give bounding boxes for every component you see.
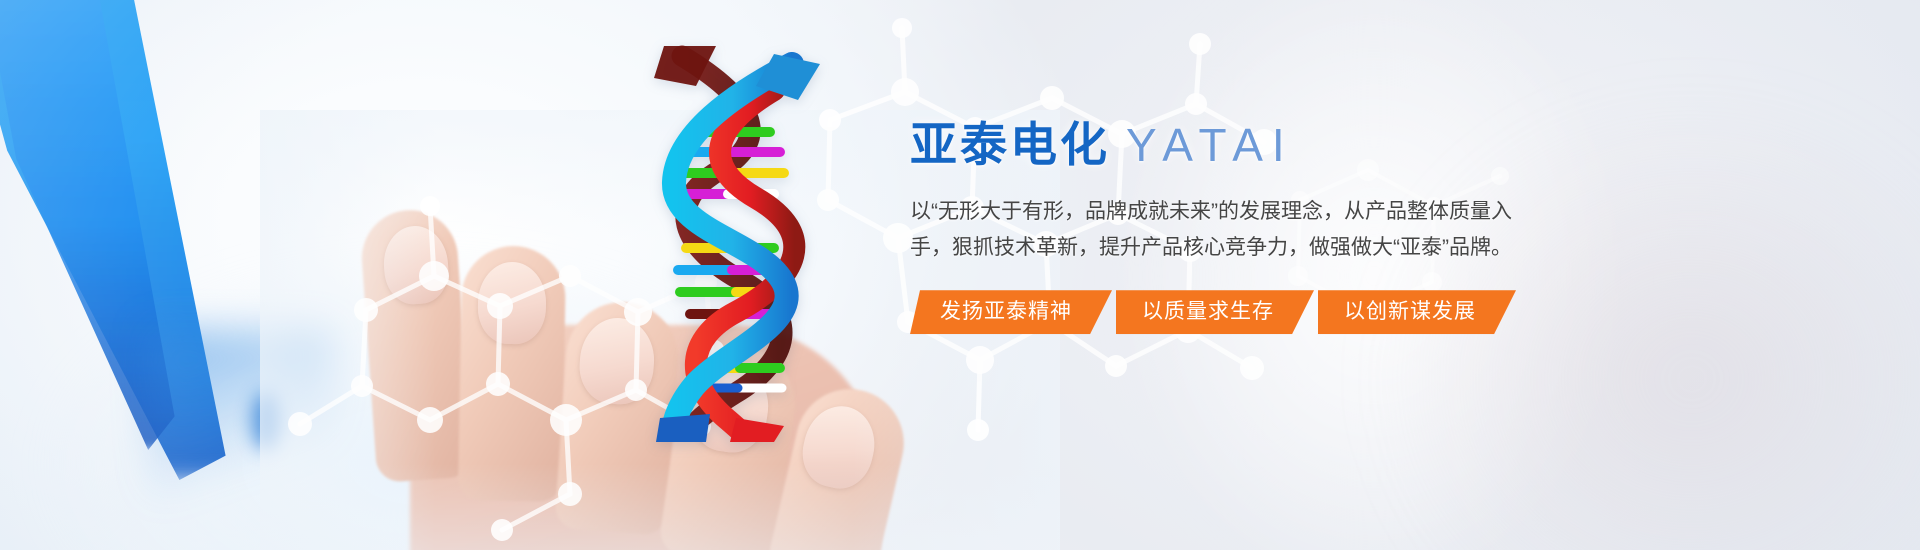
slogan-tag-3[interactable]: 以创新谋发展 [1318,290,1516,334]
banner-content: 亚泰电化YATAI 以“无形大于有形，品牌成就未来”的发展理念，从产品整体质量入… [910,118,1570,334]
description-line-2: 手，狠抓技术革新，提升产品核心竞争力，做强做大“亚泰”品牌。 [910,230,1530,266]
page-title: 亚泰电化YATAI [910,118,1570,172]
slogan-tag-1[interactable]: 发扬亚泰精神 [910,290,1112,334]
hero-banner: 亚泰电化YATAI 以“无形大于有形，品牌成就未来”的发展理念，从产品整体质量入… [0,0,1920,550]
slogan-tag-2[interactable]: 以质量求生存 [1116,290,1314,334]
slogan-tag-list: 发扬亚泰精神 以质量求生存 以创新谋发展 [910,290,1570,334]
title-english: YATAI [1126,119,1294,171]
title-chinese: 亚泰电化 [910,118,1110,171]
description-line-1: 以“无形大于有形，品牌成就未来”的发展理念，从产品整体质量入 [910,194,1530,230]
banner-description: 以“无形大于有形，品牌成就未来”的发展理念，从产品整体质量入 手，狠抓技术革新，… [910,194,1530,266]
